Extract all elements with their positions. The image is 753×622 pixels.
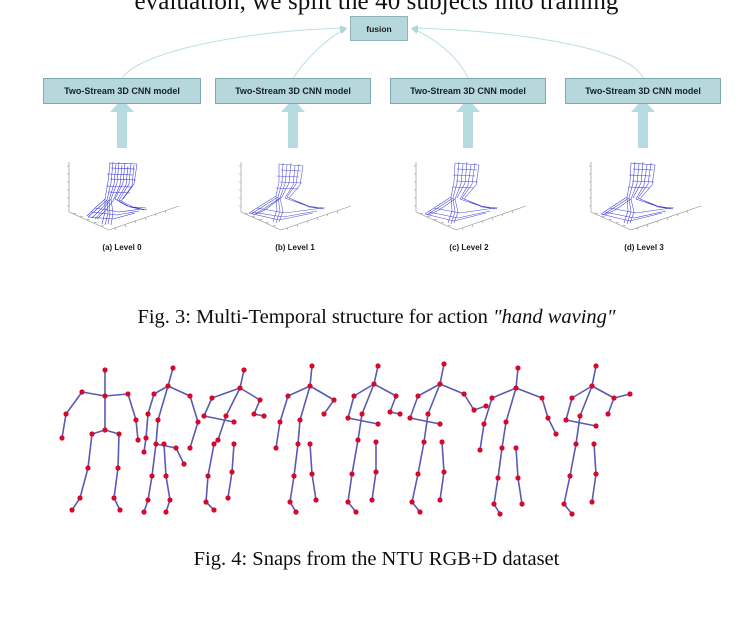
panel-label-level-2: (c) Level 2	[391, 243, 547, 252]
figure-4-caption: Fig. 4: Snaps from the NTU RGB+D dataset	[0, 548, 753, 571]
skeleton-3d-plot-1	[219, 150, 369, 242]
cnn-model-box-2: Two-Stream 3D CNN model	[390, 78, 546, 104]
panel-label-level-3: (d) Level 3	[566, 243, 722, 252]
skeleton-joints	[59, 361, 632, 516]
cnn-model-box-0: Two-Stream 3D CNN model	[43, 78, 201, 104]
skeleton-3d-plot-0	[47, 150, 197, 242]
panel-label-level-0: (a) Level 0	[44, 243, 200, 252]
figure-3-caption: Fig. 3: Multi-Temporal structure for act…	[0, 306, 753, 329]
cnn-model-box-3: Two-Stream 3D CNN model	[565, 78, 721, 104]
skeleton-3d-plot-3	[569, 150, 719, 242]
page-canvas: evaluation, we split the 40 subjects int…	[0, 0, 753, 622]
fusion-node: fusion	[350, 16, 408, 41]
skeleton-3d-plot-2	[394, 150, 544, 242]
panel-label-level-1: (b) Level 1	[217, 243, 373, 252]
cnn-model-box-1: Two-Stream 3D CNN model	[215, 78, 371, 104]
upward-arrows	[110, 99, 655, 148]
figure-3-caption-action: "hand waving"	[493, 306, 616, 328]
figure-4-skeleton-snaps	[48, 352, 708, 537]
figure-3-diagram: fusion Two-Stream 3D CNN model Two-Strea…	[0, 0, 753, 300]
figure-3-caption-text: Fig. 3: Multi-Temporal structure for act…	[137, 306, 493, 328]
